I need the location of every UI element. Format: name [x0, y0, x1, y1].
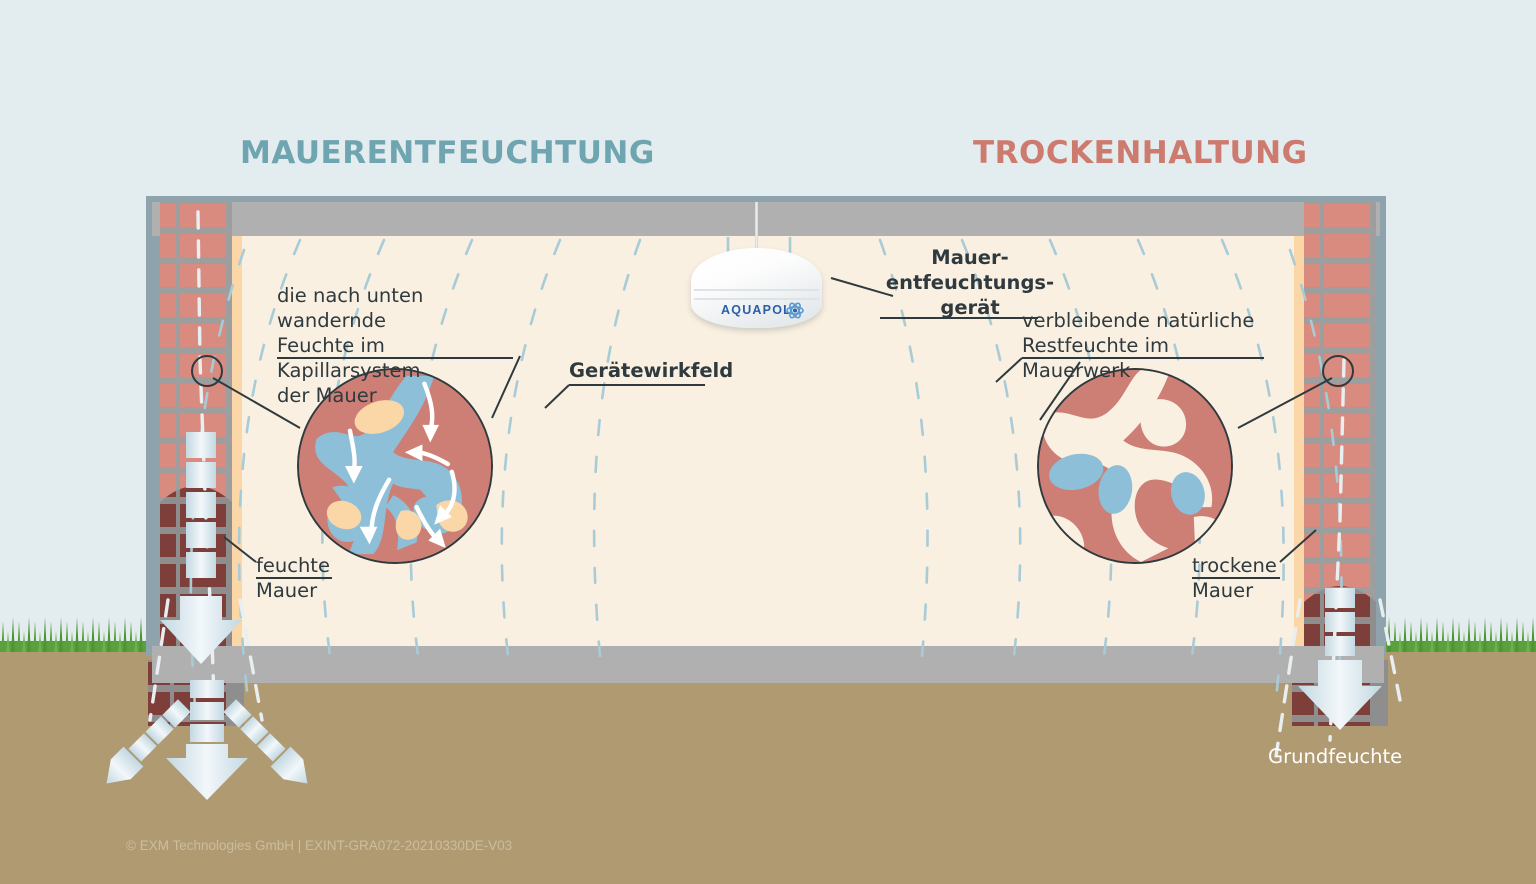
label-wet-wall-line1: feuchte	[256, 553, 330, 578]
device-suspension-cord	[755, 202, 758, 248]
aquapol-device: AQUAPOL	[691, 248, 822, 328]
label-device-field: Gerätewirkfeld	[569, 358, 733, 383]
label-ground-moisture: Grundfeuchte	[1268, 745, 1402, 768]
magnifier-origin-left	[191, 355, 223, 387]
label-capillary-moisture: die nach unten wandernde Feuchte im Kapi…	[277, 283, 527, 408]
magnifier-origin-right	[1322, 355, 1354, 387]
plaster-layer-right	[1294, 236, 1304, 656]
plaster-layer-left	[232, 236, 242, 656]
diagram-canvas: AQUAPOL MAUERENTFEUCHTUNG TROCKENHALTUNG…	[0, 0, 1536, 884]
page-title-right: TROCKENHALTUNG	[973, 135, 1308, 171]
foundation-slab-right	[1288, 646, 1384, 683]
device-groove-upper	[694, 289, 819, 291]
page-title-left: MAUERENTFEUCHTUNG	[240, 135, 655, 171]
ceiling-slab	[152, 202, 1380, 236]
label-dry-wall-line1: trockene	[1192, 553, 1277, 578]
copyright-notice: © EXM Technologies GmbH | EXINT-GRA072-2…	[126, 838, 512, 853]
floor-slab	[238, 646, 1294, 683]
atom-swirl-icon	[785, 302, 805, 319]
label-residual-moisture: verbleibende natürliche Restfeuchte im M…	[1022, 308, 1282, 383]
label-dry-wall-line2: Mauer	[1192, 578, 1253, 603]
foundation-slab-left	[152, 646, 244, 683]
label-wet-wall-line2: Mauer	[256, 578, 317, 603]
magnifier-dry-wall	[1037, 368, 1233, 564]
device-groove-lower	[694, 298, 819, 300]
